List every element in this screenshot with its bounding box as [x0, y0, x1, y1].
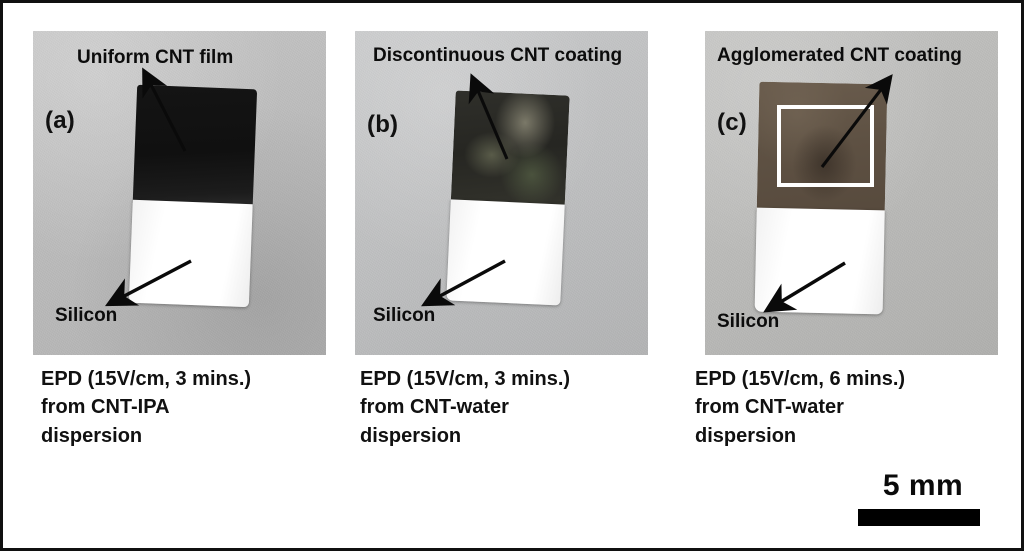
caption-panel-b: EPD (15V/cm, 3 mins.) from CNT-water dis… [360, 365, 660, 450]
panel-c-photo: Agglomerated CNT coating (c) Silicon [705, 31, 998, 355]
caption-panel-c: EPD (15V/cm, 6 mins.) from CNT-water dis… [695, 365, 1005, 450]
scale-bar-label: 5 mm [858, 471, 988, 501]
annotation-discontinuous-cnt-coating: Discontinuous CNT coating [373, 45, 622, 67]
annotation-silicon-b: Silicon [373, 305, 435, 327]
panel-letter-c: (c) [717, 109, 747, 137]
panel-letter-b: (b) [367, 111, 398, 139]
figure-container: Uniform CNT film (a) Silicon Discontinuo… [0, 0, 1024, 551]
scale-bar-rect [858, 509, 980, 526]
annotation-silicon-a: Silicon [55, 305, 117, 327]
annotation-silicon-c: Silicon [717, 311, 779, 333]
caption-panel-a: EPD (15V/cm, 3 mins.) from CNT-IPA dispe… [41, 365, 341, 450]
annotation-uniform-cnt-film: Uniform CNT film [77, 47, 233, 69]
panel-b-photo: Discontinuous CNT coating (b) Silicon [355, 31, 648, 355]
arrow-to-agglomerated-coating-c [705, 31, 998, 355]
annotation-agglomerated-cnt-coating: Agglomerated CNT coating [717, 45, 962, 67]
panel-a-photo: Uniform CNT film (a) Silicon [33, 31, 326, 355]
scale-bar: 5 mm [858, 471, 988, 526]
panel-letter-a: (a) [45, 107, 75, 135]
